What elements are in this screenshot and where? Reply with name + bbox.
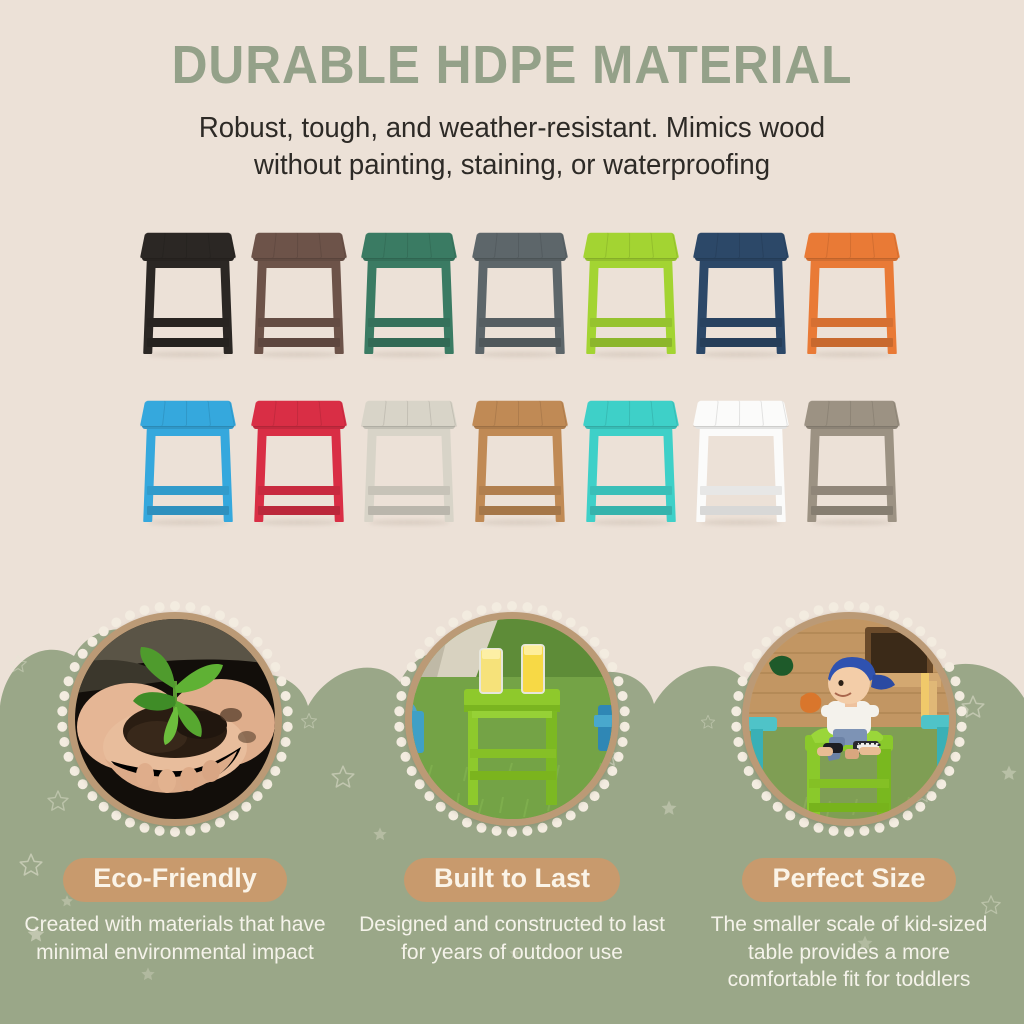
stool-swatch[interactable] <box>804 382 900 522</box>
seat-slat <box>521 233 543 258</box>
stool-stretcher-lower <box>479 506 561 515</box>
seat-slat <box>521 401 543 426</box>
feature-photo-frame <box>50 594 300 844</box>
stool-seat <box>472 401 568 426</box>
header: DURABLE HDPE MATERIAL Robust, tough, and… <box>0 0 1024 183</box>
feature-description: Designed and constructed to last for yea… <box>357 911 667 966</box>
seat-slat <box>584 233 609 258</box>
stool-swatch[interactable] <box>472 214 568 354</box>
seat-slat <box>299 233 321 258</box>
page-subtitle: Robust, tough, and weather-resistant. Mi… <box>151 110 873 183</box>
stool-apron <box>258 428 340 436</box>
stool-swatch[interactable] <box>693 214 789 354</box>
stool-seat <box>804 401 900 426</box>
stool-stretcher-lower <box>700 506 782 515</box>
seat-slat <box>165 233 187 258</box>
stool-shadow <box>701 520 781 525</box>
stool-stretcher-lower <box>368 338 450 347</box>
stool-shadow <box>812 520 892 525</box>
stool-swatch[interactable] <box>361 214 457 354</box>
seat-slat <box>189 401 211 426</box>
seat-slat <box>542 233 567 258</box>
stool-shadow <box>591 520 671 525</box>
stool-apron <box>368 260 450 268</box>
stool-shadow <box>259 520 339 525</box>
stool-stretcher-upper <box>147 486 229 495</box>
seat-slat <box>853 233 875 258</box>
stool-swatch[interactable] <box>251 382 347 522</box>
subtitle-line-2: without painting, staining, or waterproo… <box>151 147 873 184</box>
stool-stretcher-upper <box>811 486 893 495</box>
stool-stretcher-lower <box>258 506 340 515</box>
subtitle-line-1: Robust, tough, and weather-resistant. Mi… <box>151 110 873 147</box>
seat-slat <box>410 401 432 426</box>
seat-slat <box>694 401 719 426</box>
stool-stretcher-upper <box>368 318 450 327</box>
stool-seat <box>251 401 347 426</box>
seat-slat <box>473 233 498 258</box>
stool-swatch[interactable] <box>251 214 347 354</box>
seat-slat <box>210 233 235 258</box>
seat-slat <box>608 401 630 426</box>
seat-slat <box>805 233 830 258</box>
stool-shadow <box>480 352 560 357</box>
stool-stretcher-lower <box>811 506 893 515</box>
stool-apron <box>700 428 782 436</box>
seat-slat <box>874 233 899 258</box>
stool-stretcher-lower <box>479 338 561 347</box>
seat-slat <box>763 401 788 426</box>
stool-stretcher-lower <box>700 338 782 347</box>
stool-shadow <box>701 352 781 357</box>
stool-stretcher-lower <box>590 338 672 347</box>
seat-slat <box>805 401 830 426</box>
feature-description: The smaller scale of kid-sized table pro… <box>694 911 1004 994</box>
hands-holding-seedling-photo <box>75 619 275 819</box>
stool-seat <box>361 401 457 426</box>
seat-slat <box>874 401 899 426</box>
stool-apron <box>479 260 561 268</box>
stool-stretcher-upper <box>590 486 672 495</box>
seat-slat <box>608 233 630 258</box>
seat-slat <box>853 401 875 426</box>
stool-stretcher-upper <box>258 318 340 327</box>
stool-stretcher-upper <box>700 318 782 327</box>
stool-seat <box>140 401 236 426</box>
stool-stretcher-lower <box>590 506 672 515</box>
seat-slat <box>299 401 321 426</box>
stool-shadow <box>148 520 228 525</box>
stool-swatch[interactable] <box>140 382 236 522</box>
seat-slat <box>742 233 764 258</box>
feature-photo-frame <box>724 594 974 844</box>
stool-shadow <box>480 520 560 525</box>
seat-slat <box>742 401 764 426</box>
seat-slat <box>321 401 346 426</box>
stool-swatch[interactable] <box>804 214 900 354</box>
seat-slat <box>276 233 298 258</box>
seat-slat <box>165 401 187 426</box>
seat-slat <box>718 401 740 426</box>
stool-stretcher-upper <box>368 486 450 495</box>
color-swatch-grid <box>140 214 900 550</box>
seat-slat <box>763 233 788 258</box>
stool-seat <box>140 233 236 258</box>
stool-seat <box>693 401 789 426</box>
stool-apron <box>811 260 893 268</box>
stool-apron <box>479 428 561 436</box>
seat-slat <box>473 401 498 426</box>
stool-stretcher-lower <box>258 338 340 347</box>
seat-slat <box>631 401 653 426</box>
feature-badge[interactable]: Eco-Friendly <box>63 858 287 902</box>
stool-swatch[interactable] <box>472 382 568 522</box>
seat-slat <box>189 233 211 258</box>
seat-slat <box>410 233 432 258</box>
stool-shadow <box>591 352 671 357</box>
stool-stretcher-upper <box>479 318 561 327</box>
stool-swatch[interactable] <box>583 382 679 522</box>
seat-slat <box>718 233 740 258</box>
stool-apron <box>590 260 672 268</box>
swatch-row <box>140 214 900 382</box>
seat-slat <box>829 233 851 258</box>
infographic-page: DURABLE HDPE MATERIAL Robust, tough, and… <box>0 0 1024 1024</box>
swatch-row <box>140 382 900 550</box>
stool-seat <box>583 401 679 426</box>
seat-slat <box>252 401 277 426</box>
feature-photo-frame <box>387 594 637 844</box>
feature-cards: Eco-FriendlyCreated with materials that … <box>0 594 1024 1024</box>
seat-slat <box>653 401 678 426</box>
stool-swatch[interactable] <box>693 382 789 522</box>
stool-stretcher-upper <box>700 486 782 495</box>
seat-slat <box>276 401 298 426</box>
stool-seat <box>583 233 679 258</box>
seat-slat <box>497 401 519 426</box>
stool-stretcher-lower <box>811 338 893 347</box>
stool-seat <box>251 233 347 258</box>
green-stool-with-lemonade-photo <box>412 619 612 819</box>
seat-slat <box>386 233 408 258</box>
seat-slat <box>141 401 166 426</box>
stool-apron <box>147 260 229 268</box>
seat-slat <box>497 233 519 258</box>
stool-stretcher-upper <box>811 318 893 327</box>
seat-slat <box>694 233 719 258</box>
stool-stretcher-lower <box>147 506 229 515</box>
stool-apron <box>147 428 229 436</box>
stool-apron <box>368 428 450 436</box>
stool-seat <box>472 233 568 258</box>
stool-apron <box>811 428 893 436</box>
page-title: DURABLE HDPE MATERIAL <box>41 0 983 92</box>
seat-slat <box>362 401 387 426</box>
stool-stretcher-upper <box>590 318 672 327</box>
feature-card: Perfect SizeThe smaller scale of kid-siz… <box>679 594 1019 994</box>
toddler-sitting-on-stool-photo <box>749 619 949 819</box>
seat-slat <box>431 233 456 258</box>
stool-stretcher-upper <box>479 486 561 495</box>
feature-card: Built to LastDesigned and constructed to… <box>342 594 682 966</box>
stool-stretcher-upper <box>147 318 229 327</box>
stool-swatch[interactable] <box>140 214 236 354</box>
stool-swatch[interactable] <box>361 382 457 522</box>
stool-apron <box>590 428 672 436</box>
stool-shadow <box>369 352 449 357</box>
stool-shadow <box>148 352 228 357</box>
feature-description: Created with materials that have minimal… <box>20 911 330 966</box>
stool-stretcher-lower <box>368 506 450 515</box>
stool-swatch[interactable] <box>583 214 679 354</box>
feature-card: Eco-FriendlyCreated with materials that … <box>5 594 345 966</box>
seat-slat <box>653 233 678 258</box>
seat-slat <box>386 401 408 426</box>
stool-seat <box>361 233 457 258</box>
seat-slat <box>210 401 235 426</box>
seat-slat <box>321 233 346 258</box>
stool-apron <box>700 260 782 268</box>
seat-slat <box>362 233 387 258</box>
seat-slat <box>631 233 653 258</box>
stool-shadow <box>812 352 892 357</box>
stool-stretcher-lower <box>147 338 229 347</box>
seat-slat <box>141 233 166 258</box>
stool-shadow <box>259 352 339 357</box>
stool-shadow <box>369 520 449 525</box>
stool-apron <box>258 260 340 268</box>
stool-seat <box>804 233 900 258</box>
stool-seat <box>693 233 789 258</box>
feature-badge[interactable]: Perfect Size <box>742 858 955 902</box>
stool-stretcher-upper <box>258 486 340 495</box>
seat-slat <box>431 401 456 426</box>
feature-badge[interactable]: Built to Last <box>404 858 620 902</box>
seat-slat <box>542 401 567 426</box>
seat-slat <box>829 401 851 426</box>
seat-slat <box>584 401 609 426</box>
seat-slat <box>252 233 277 258</box>
